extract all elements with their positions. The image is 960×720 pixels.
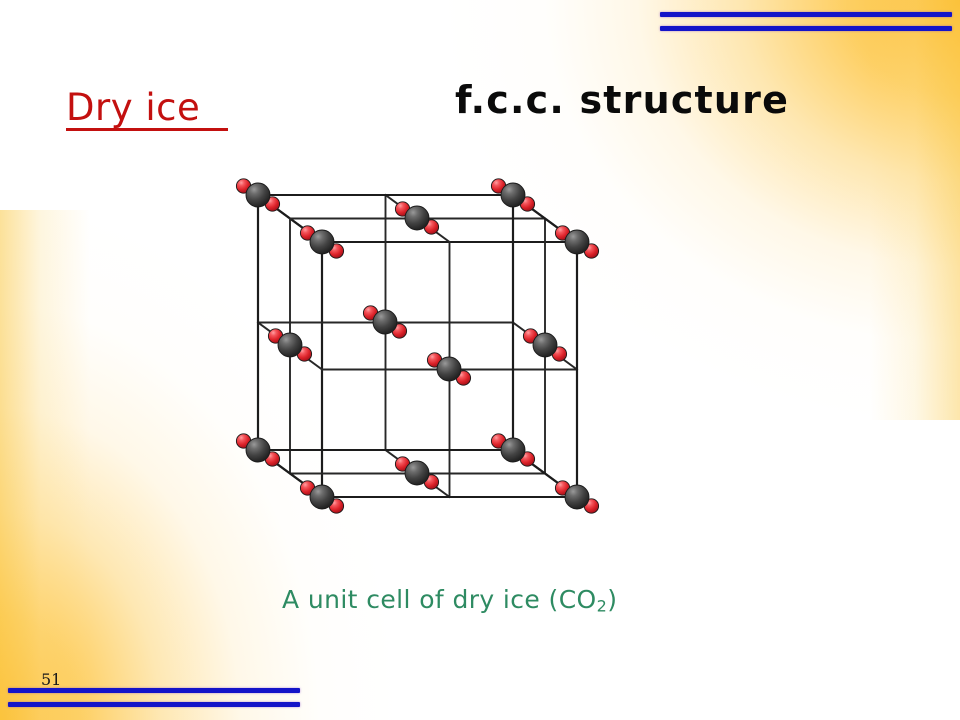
caption-text-main: A unit cell of dry ice (CO [282, 585, 597, 614]
topic-title-underline [66, 128, 228, 131]
caption-subscript: 2 [597, 597, 608, 616]
decorative-rule-top-right-lower [660, 26, 952, 31]
figure-caption: A unit cell of dry ice (CO2) [282, 585, 617, 616]
page-number: 51 [41, 670, 61, 689]
caption-text-tail: ) [607, 585, 617, 614]
decorative-rule-bottom-left-lower [8, 702, 300, 707]
page-title: f.c.c. structure [455, 78, 789, 122]
decorative-rule-top-right-upper [660, 12, 952, 17]
slide-canvas: Dry ice f.c.c. structure A unit cell of … [0, 0, 960, 720]
topic-title: Dry ice [66, 86, 200, 129]
